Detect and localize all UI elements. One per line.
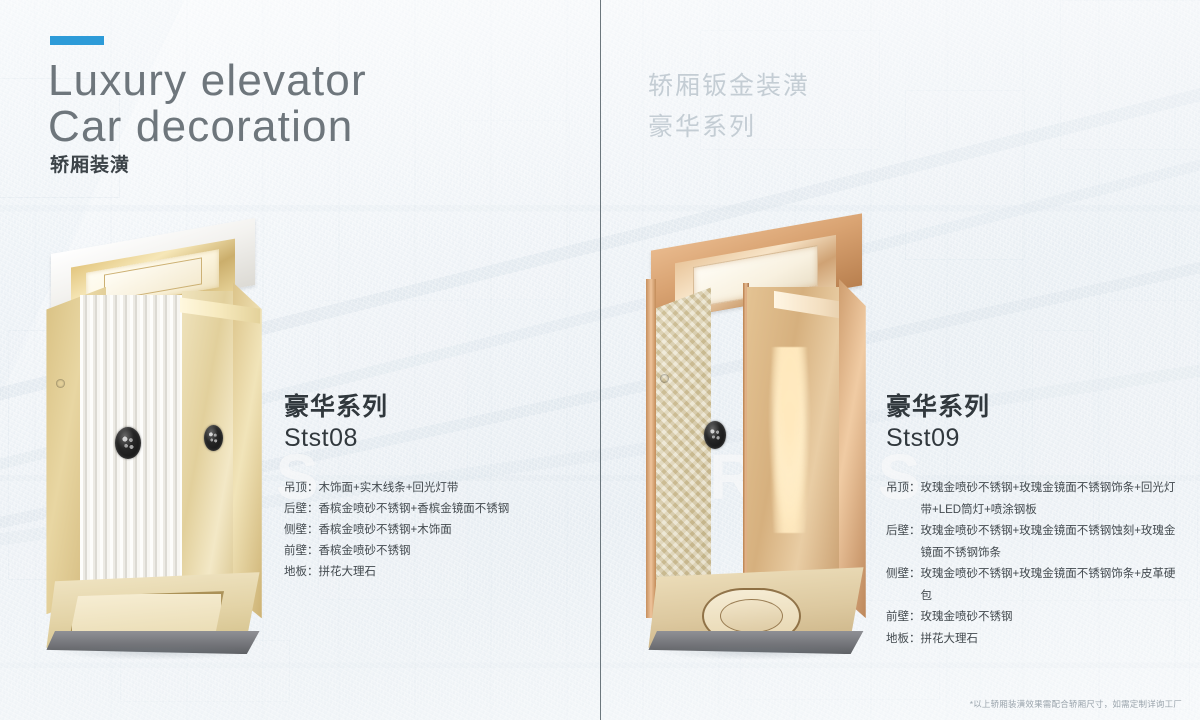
spec-row: 地板： 拼花大理石 [886, 629, 1186, 651]
spec-key: 侧壁： [886, 564, 921, 607]
spec-row: 后壁： 香槟金喷砂不锈钢+香槟金镜面不锈钢 [284, 499, 574, 520]
product-series-name: 豪华系列 [284, 392, 574, 422]
spec-key: 地板： [886, 629, 921, 651]
spec-key: 前壁： [886, 607, 921, 629]
spec-key: 吊顶： [284, 478, 319, 499]
spec-row: 侧壁： 玫瑰金喷砂不锈钢+玫瑰金镜面不锈钢饰条+皮革硬包 [886, 564, 1186, 607]
spec-row: 前壁： 玫瑰金喷砂不锈钢 [886, 607, 1186, 629]
spec-value: 玫瑰金喷砂不锈钢+玫瑰金镜面不锈钢饰条+皮革硬包 [921, 564, 1187, 607]
page-root: Luxury elevator Car decoration 轿厢装潢 轿厢钣金… [0, 0, 1200, 720]
page-title-line-2: Car decoration [48, 104, 568, 150]
product-info-stst09: 豪华系列 Stst09 吊顶： 玫瑰金喷砂不锈钢+玫瑰金镜面不锈钢饰条+回光灯带… [886, 392, 1186, 650]
spec-value: 玫瑰金喷砂不锈钢 [921, 607, 1187, 629]
spec-row: 侧壁： 香槟金喷砂不锈钢+木饰面 [284, 520, 574, 541]
car-right-wall [233, 282, 262, 618]
spec-value: 拼花大理石 [921, 629, 1187, 651]
elevator-car-image-stst08 [42, 232, 264, 652]
panel-divider [600, 0, 601, 720]
product-model-code: Stst09 [886, 422, 1186, 454]
right-panel-title: 轿厢钣金装潢 豪华系列 [648, 66, 810, 148]
product-spec-list: 吊顶： 玫瑰金喷砂不锈钢+玫瑰金镜面不锈钢饰条+回光灯带+LED筒灯+喷涂钢板 … [886, 478, 1186, 650]
footnote-disclaimer: *以上轿厢装潢效果需配合轿厢尺寸，如需定制详询工厂 [970, 698, 1182, 710]
spec-value: 香槟金喷砂不锈钢+香槟金镜面不锈钢 [319, 499, 575, 520]
spec-row: 后壁： 玫瑰金喷砂不锈钢+玫瑰金镜面不锈钢蚀刻+玫瑰金镜面不锈钢饰条 [886, 521, 1186, 564]
spec-value: 香槟金喷砂不锈钢+木饰面 [319, 520, 575, 541]
product-info-stst08: 豪华系列 Stst08 吊顶： 木饰面+实木线条+回光灯带 后壁： 香槟金喷砂不… [284, 392, 574, 583]
page-title: Luxury elevator Car decoration [48, 58, 568, 150]
spec-value: 拼花大理石 [319, 562, 575, 583]
right-panel-title-line-1: 轿厢钣金装潢 [648, 66, 810, 107]
spec-value: 玫瑰金喷砂不锈钢+玫瑰金镜面不锈钢蚀刻+玫瑰金镜面不锈钢饰条 [921, 521, 1187, 564]
spec-value: 木饰面+实木线条+回光灯带 [319, 478, 575, 499]
right-panel-title-line-2: 豪华系列 [648, 107, 810, 148]
spec-key: 吊顶： [886, 478, 921, 521]
spec-key: 侧壁： [284, 520, 319, 541]
spec-row: 地板： 拼花大理石 [284, 562, 574, 583]
car-door-jamb-left [646, 279, 656, 618]
spec-key: 后壁： [886, 521, 921, 564]
spec-key: 前壁： [284, 541, 319, 562]
car-right-wall [839, 279, 866, 618]
spec-key: 地板： [284, 562, 319, 583]
car-left-wall-leather [651, 287, 711, 613]
accent-bar [50, 36, 104, 45]
spec-row: 吊顶： 木饰面+实木线条+回光灯带 [284, 478, 574, 499]
spec-key: 后壁： [284, 499, 319, 520]
car-floor-medallion-inner [720, 599, 783, 633]
product-series-name: 豪华系列 [886, 392, 1186, 422]
spec-value: 玫瑰金喷砂不锈钢+玫瑰金镜面不锈钢饰条+回光灯带+LED筒灯+喷涂钢板 [921, 478, 1187, 521]
product-spec-list: 吊顶： 木饰面+实木线条+回光灯带 后壁： 香槟金喷砂不锈钢+香槟金镜面不锈钢 … [284, 478, 574, 583]
car-wall-fixture-dot [660, 374, 669, 383]
elevator-car-image-stst09 [644, 228, 868, 652]
car-drop-shadow [657, 644, 854, 660]
spec-value: 香槟金喷砂不锈钢 [319, 541, 575, 562]
spec-row: 前壁： 香槟金喷砂不锈钢 [284, 541, 574, 562]
car-drop-shadow [55, 644, 250, 660]
spec-row: 吊顶： 玫瑰金喷砂不锈钢+玫瑰金镜面不锈钢饰条+回光灯带+LED筒灯+喷涂钢板 [886, 478, 1186, 521]
car-operating-panel-main [704, 421, 726, 449]
car-back-wall-etching-pattern [767, 347, 812, 534]
product-model-code: Stst08 [284, 422, 574, 454]
page-title-line-1: Luxury elevator [48, 56, 367, 105]
page-subtitle-cn: 轿厢装潢 [50, 150, 130, 177]
